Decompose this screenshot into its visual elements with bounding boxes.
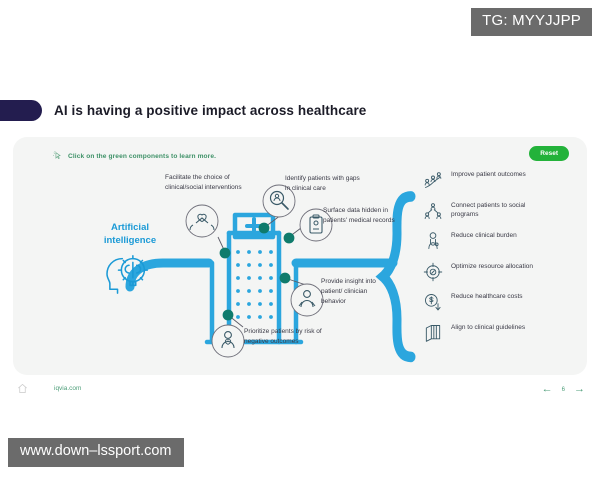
green-dot-insight bbox=[280, 273, 291, 284]
dollar-down-icon bbox=[423, 292, 443, 312]
callout-identify-gaps[interactable]: Identify patients with gaps in clinical … bbox=[285, 174, 365, 194]
watermark-badge: www.down–lssport.com bbox=[8, 438, 184, 467]
people-growth-icon bbox=[423, 170, 443, 190]
head-brain-gear-lightbulb-icon bbox=[101, 249, 159, 295]
home-icon[interactable] bbox=[17, 383, 28, 394]
hands-heart-icon bbox=[186, 205, 218, 237]
person-insight-icon bbox=[291, 284, 323, 316]
arrow-left-icon[interactable]: ← bbox=[542, 384, 553, 395]
page-number: 6 bbox=[562, 387, 565, 393]
outcomes-list: Improve patient outcomes Connect patient… bbox=[423, 169, 573, 352]
green-dot-surface bbox=[284, 233, 295, 244]
page-title-row: AI is having a positive impact across he… bbox=[0, 97, 366, 123]
infographic-card: Click on the green components to learn m… bbox=[13, 137, 587, 375]
people-network-icon bbox=[423, 201, 443, 221]
green-dot-identify bbox=[259, 223, 270, 234]
title-accent-bar bbox=[0, 100, 42, 121]
arrow-right-icon[interactable]: → bbox=[574, 384, 585, 395]
footer-left-group: iqvia.com bbox=[17, 383, 81, 394]
callout-provide-insight[interactable]: Provide insight into patient/ clinician … bbox=[321, 277, 391, 307]
green-dot-prioritize bbox=[223, 310, 234, 321]
outcome-label: Reduce healthcare costs bbox=[451, 291, 551, 302]
outcome-item: Reduce clinical burden bbox=[423, 230, 573, 261]
outcome-label: Optimize resource allocation bbox=[451, 261, 551, 272]
outcome-item: Align to clinical guidelines bbox=[423, 322, 573, 353]
outcome-label: Align to clinical guidelines bbox=[451, 322, 551, 333]
outcome-label: Improve patient outcomes bbox=[451, 169, 551, 180]
footer-nav-group: ← 6 → bbox=[542, 384, 585, 395]
tg-badge: TG: MYYJJPP bbox=[471, 8, 592, 36]
guidelines-book-icon bbox=[423, 323, 443, 343]
ai-label-line2: intelligence bbox=[87, 235, 173, 248]
outcome-label: Connect patients to social programs bbox=[451, 200, 551, 221]
outcome-item: Optimize resource allocation bbox=[423, 261, 573, 292]
outcome-label: Reduce clinical burden bbox=[451, 230, 551, 241]
callout-prioritize[interactable]: Prioritize patients by risk of negative … bbox=[244, 327, 340, 347]
outcome-item: Reduce healthcare costs bbox=[423, 291, 573, 322]
callout-surface-data[interactable]: Surface data hidden in patients' medical… bbox=[323, 206, 399, 226]
outcome-item: Connect patients to social programs bbox=[423, 200, 573, 231]
ai-label-line1: Artificial bbox=[87, 222, 173, 235]
footer-site-link[interactable]: iqvia.com bbox=[54, 385, 81, 392]
page-title: AI is having a positive impact across he… bbox=[54, 103, 366, 118]
ai-node-label: Artificial intelligence bbox=[87, 222, 173, 248]
target-gear-icon bbox=[423, 262, 443, 282]
clinician-icon bbox=[423, 231, 443, 251]
outcome-item: Improve patient outcomes bbox=[423, 169, 573, 200]
green-dot-facilitate bbox=[220, 248, 231, 259]
callout-facilitate[interactable]: Facilitate the choice of clinical/social… bbox=[165, 173, 249, 193]
footer-bar: iqvia.com ← 6 → bbox=[13, 381, 587, 403]
person-heart-icon bbox=[212, 325, 244, 357]
